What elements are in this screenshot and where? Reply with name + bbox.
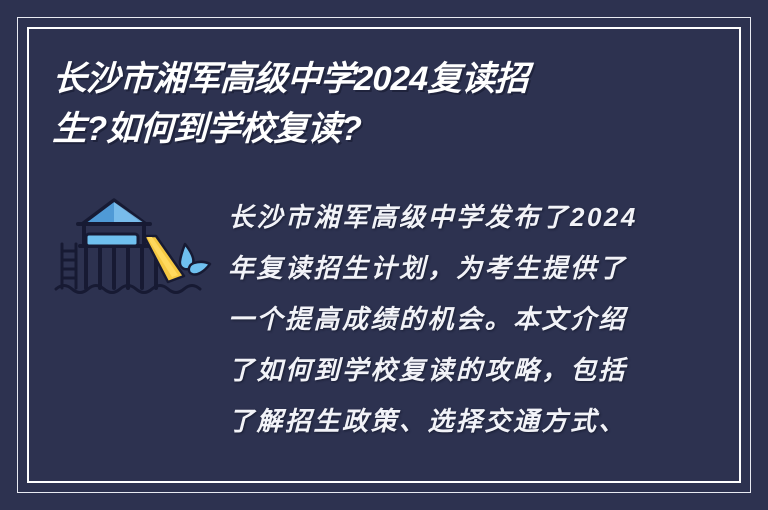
- article-body: 长沙市湘军高级中学发布了2024 年复读招生计划，为考生提供了 一个提高成绩的机…: [228, 204, 658, 434]
- article-body-line: 长沙市湘军高级中学发布了2024: [228, 204, 658, 230]
- page-title-line-2: 生?如何到学校复读?: [52, 112, 673, 146]
- water-splash-icon: [180, 244, 210, 275]
- yellow-slide-icon: [144, 236, 184, 282]
- article-body-line: 一个提高成绩的机会。本文介绍: [228, 306, 658, 332]
- triangular-roof-icon: [78, 200, 150, 224]
- page-title-line-1: 长沙市湘军高级中学2024复读招: [52, 62, 673, 96]
- article-body-line: 了如何到学校复读的攻略，包括: [228, 357, 658, 383]
- ladder-icon: [62, 244, 76, 288]
- page-title: 长沙市湘军高级中学2024复读招 生?如何到学校复读?: [52, 62, 672, 146]
- platform-panel: [86, 234, 138, 246]
- article-body-line: 年复读招生计划，为考生提供了: [228, 255, 658, 281]
- playground-slide-icon: [52, 196, 212, 306]
- support-posts: [86, 248, 156, 288]
- article-body-line: 了解招生政策、选择交通方式、: [228, 408, 658, 434]
